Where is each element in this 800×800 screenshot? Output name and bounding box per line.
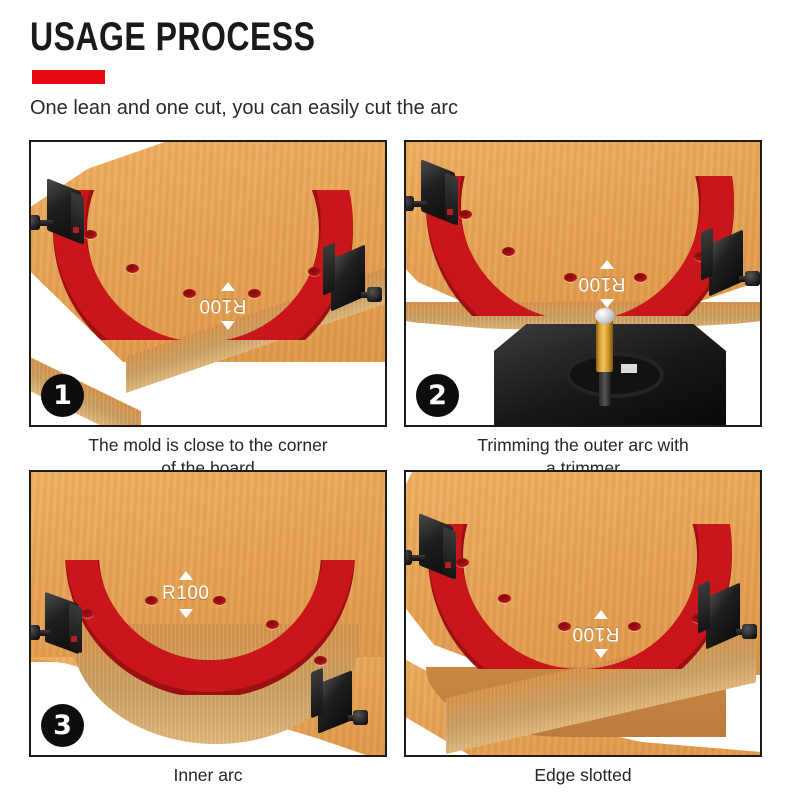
jig-screw-hole bbox=[459, 210, 472, 219]
clamp-jaw bbox=[698, 580, 710, 633]
alignment-arrow-up-icon bbox=[600, 260, 614, 269]
alignment-arrow-down-icon bbox=[600, 299, 614, 308]
clamp-red-pad bbox=[73, 227, 79, 233]
router-plate-slot bbox=[621, 364, 637, 373]
clamp-knob[interactable] bbox=[742, 624, 757, 639]
clamp-knob[interactable] bbox=[353, 710, 368, 725]
clamp-jaw bbox=[443, 526, 456, 579]
router-bit-bearing bbox=[595, 308, 615, 324]
router-base-opening bbox=[566, 352, 664, 398]
jig-screw-hole bbox=[126, 264, 139, 273]
title-accent-rule bbox=[32, 70, 105, 84]
jig-screw-hole bbox=[81, 609, 94, 618]
jig-screw-hole bbox=[558, 622, 571, 631]
jig-screw-hole bbox=[628, 622, 641, 631]
jig-screw-hole bbox=[145, 596, 158, 605]
step-1-caption-line-1: The mold is close to the corner bbox=[29, 434, 387, 457]
step-3-caption: Inner arc bbox=[29, 764, 387, 787]
step-number-badge: 3 bbox=[41, 704, 84, 747]
clamp-jaw bbox=[323, 242, 335, 295]
page-subtitle: One lean and one cut, you can easily cut… bbox=[30, 95, 458, 122]
alignment-arrow-up-icon bbox=[221, 282, 235, 291]
jig-screw-hole bbox=[183, 289, 196, 298]
step-number-badge: 2 bbox=[416, 374, 459, 417]
clamp-knob[interactable] bbox=[745, 271, 760, 286]
clamp-knob[interactable] bbox=[29, 215, 40, 230]
jig-screw-hole bbox=[634, 273, 647, 282]
alignment-arrow-down-icon bbox=[221, 321, 235, 330]
alignment-arrow-up-icon bbox=[594, 610, 608, 619]
page-title: USAGE PROCESS bbox=[30, 14, 315, 60]
jig-screw-hole bbox=[456, 558, 469, 567]
arc-ring-top bbox=[428, 524, 732, 669]
jig-radius-label: R100 bbox=[572, 622, 619, 644]
clamp-jaw bbox=[701, 227, 713, 280]
jig-screw-hole bbox=[213, 596, 226, 605]
jig-screw-hole bbox=[308, 267, 321, 276]
jig-screw-hole bbox=[564, 273, 577, 282]
step-number-badge: 1 bbox=[41, 374, 84, 417]
jig-radius-label: R100 bbox=[578, 272, 625, 294]
arc-clip bbox=[41, 190, 371, 340]
alignment-arrow-down-icon bbox=[179, 609, 193, 618]
alignment-arrow-up-icon bbox=[179, 571, 193, 580]
jig-screw-hole bbox=[84, 230, 97, 239]
arc-ring-top bbox=[53, 190, 353, 340]
clamp-jaw bbox=[445, 172, 458, 225]
usage-step-3: R100 3 Inner arc bbox=[29, 470, 387, 787]
step-1-photo: R100 1 bbox=[29, 140, 387, 427]
jig-screw-hole bbox=[248, 289, 261, 298]
step-4-caption: Edge slotted bbox=[404, 764, 762, 787]
step-2-caption-line-1: Trimming the outer arc with bbox=[404, 434, 762, 457]
usage-step-2: R100 2 bbox=[404, 140, 762, 480]
jig-radius-label: R100 bbox=[162, 583, 209, 605]
alignment-arrow-down-icon bbox=[594, 649, 608, 658]
clamp-red-pad bbox=[447, 209, 453, 215]
clamp-knob[interactable] bbox=[404, 550, 412, 565]
jig-screw-hole bbox=[498, 594, 511, 603]
router-trim-bit bbox=[596, 318, 613, 372]
clamp-knob[interactable] bbox=[404, 196, 414, 211]
step-2-photo: R100 2 bbox=[404, 140, 762, 427]
clamp-red-pad bbox=[71, 636, 77, 642]
clamp-knob[interactable] bbox=[29, 625, 40, 640]
usage-step-4: R100 Edge slotted bbox=[404, 470, 762, 787]
clamp-jaw bbox=[311, 668, 323, 719]
usage-step-1: R100 1 The mold is close to the corn bbox=[29, 140, 387, 480]
step-3-caption-line-1: Inner arc bbox=[29, 764, 387, 787]
clamp-red-pad bbox=[445, 562, 451, 568]
clamp-jaw bbox=[69, 603, 82, 654]
step-4-photo: R100 bbox=[404, 470, 762, 757]
jig-radius-label: R100 bbox=[199, 294, 246, 316]
clamp-jaw bbox=[71, 191, 84, 244]
jig-screw-hole bbox=[502, 247, 515, 256]
step-3-photo: R100 3 bbox=[29, 470, 387, 757]
jig-screw-hole bbox=[314, 656, 327, 665]
clamp-knob[interactable] bbox=[367, 287, 382, 302]
arc-ring-top bbox=[426, 176, 734, 316]
jig-screw-hole bbox=[266, 620, 279, 629]
step-4-caption-line-1: Edge slotted bbox=[404, 764, 762, 787]
